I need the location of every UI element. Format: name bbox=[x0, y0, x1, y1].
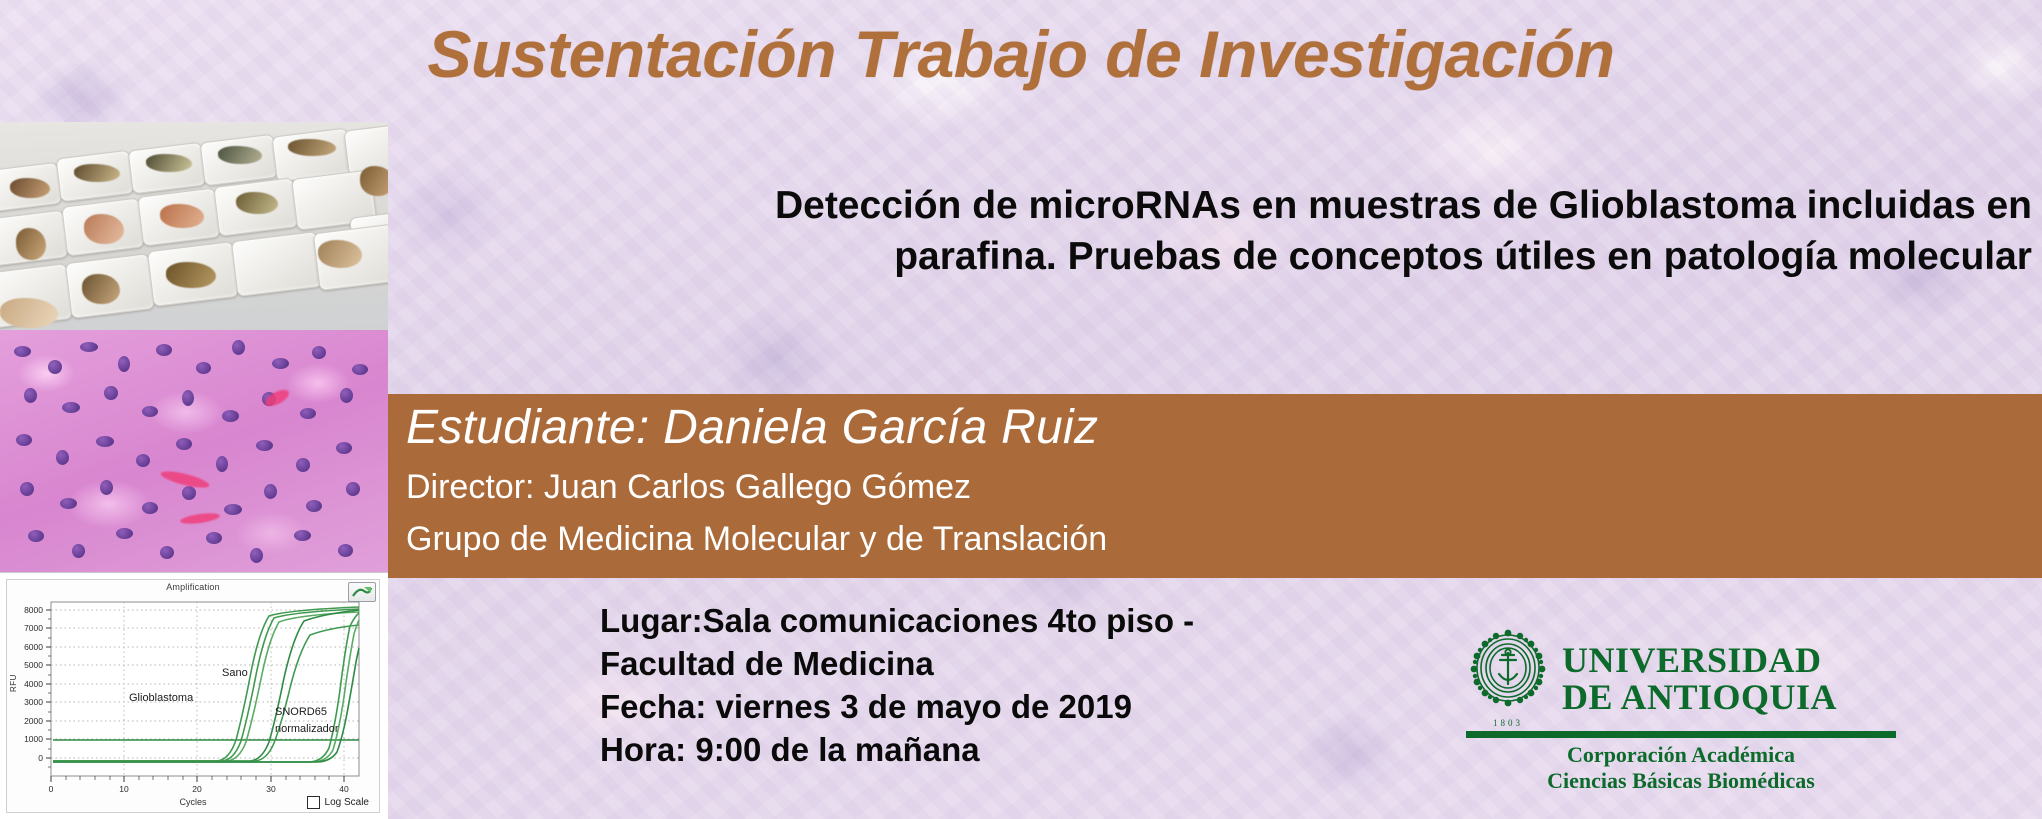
svg-text:5000: 5000 bbox=[24, 660, 43, 670]
svg-text:10: 10 bbox=[119, 784, 129, 794]
logo-subtitle: Corporación Académica Ciencias Básicas B… bbox=[1466, 742, 1896, 794]
histology-image bbox=[0, 330, 388, 572]
director-name: Director: Juan Carlos Gallego Gómez bbox=[406, 468, 971, 507]
chart-annotation-sano: Sano bbox=[222, 667, 248, 679]
log-scale-checkbox[interactable] bbox=[307, 796, 320, 809]
event-date: Fecha: viernes 3 de mayo de 2019 bbox=[600, 686, 1194, 729]
university-name-line-1: UNIVERSIDAD bbox=[1562, 642, 1837, 679]
chart-annotation-normalizador: normalizador bbox=[275, 723, 339, 735]
log-scale-label: Log Scale bbox=[325, 797, 369, 808]
logo-sub-line-1: Corporación Académica bbox=[1466, 742, 1896, 768]
research-subtitle: Detección de microRNAs en muestras de Gl… bbox=[600, 180, 2032, 283]
chart-annotation-snord65: SNORD65 bbox=[275, 706, 327, 718]
event-place-line-1: Lugar:Sala comunicaciones 4to piso - bbox=[600, 600, 1194, 643]
logo-divider bbox=[1466, 731, 1896, 738]
paraffin-cassettes-image bbox=[0, 122, 388, 330]
svg-text:2000: 2000 bbox=[24, 716, 43, 726]
seal-year: 1803 bbox=[1466, 718, 1550, 728]
seal-wrap: 1803 bbox=[1466, 628, 1550, 728]
subtitle-line-2: parafina. Pruebas de conceptos útiles en… bbox=[600, 231, 2032, 282]
event-details: Lugar:Sala comunicaciones 4to piso - Fac… bbox=[600, 600, 1194, 772]
svg-text:0: 0 bbox=[49, 784, 54, 794]
event-time: Hora: 9:00 de la mañana bbox=[600, 729, 1194, 772]
university-seal-icon bbox=[1466, 628, 1550, 712]
university-logo: 1803 UNIVERSIDAD DE ANTIOQUIA Corporació… bbox=[1466, 628, 1896, 794]
research-group: Grupo de Medicina Molecular y de Transla… bbox=[406, 520, 1107, 559]
svg-text:6000: 6000 bbox=[24, 642, 43, 652]
svg-text:40: 40 bbox=[339, 784, 349, 794]
student-name: Estudiante: Daniela García Ruiz bbox=[406, 400, 1098, 455]
chart-plot: 8000 7000 6000 5000 4000 3000 2000 1000 … bbox=[7, 580, 381, 814]
event-place-line-2: Facultad de Medicina bbox=[600, 643, 1194, 686]
svg-text:4000: 4000 bbox=[24, 679, 43, 689]
page-title: Sustentación Trabajo de Investigación bbox=[0, 16, 2042, 92]
logo-sub-line-2: Ciencias Básicas Biomédicas bbox=[1466, 768, 1896, 794]
subtitle-line-1: Detección de microRNAs en muestras de Gl… bbox=[600, 180, 2032, 231]
svg-text:7000: 7000 bbox=[24, 623, 43, 633]
university-name: UNIVERSIDAD DE ANTIOQUIA bbox=[1562, 628, 1837, 715]
log-scale-toggle[interactable]: Log Scale bbox=[307, 796, 369, 809]
svg-text:0: 0 bbox=[38, 753, 43, 763]
amplification-chart-image: Amplification RFU Cycles bbox=[0, 572, 388, 819]
svg-text:20: 20 bbox=[192, 784, 202, 794]
svg-text:1000: 1000 bbox=[24, 734, 43, 744]
chart-frame: Amplification RFU Cycles bbox=[6, 579, 380, 813]
svg-text:8000: 8000 bbox=[24, 605, 43, 615]
poster-root: Sustentación Trabajo de Investigación De… bbox=[0, 0, 2042, 819]
svg-text:3000: 3000 bbox=[24, 697, 43, 707]
presenter-band: Estudiante: Daniela García Ruiz Director… bbox=[388, 394, 2042, 578]
svg-text:30: 30 bbox=[266, 784, 276, 794]
chart-annotation-glioblastoma: Glioblastoma bbox=[129, 692, 193, 704]
university-name-line-2: DE ANTIOQUIA bbox=[1562, 679, 1837, 716]
